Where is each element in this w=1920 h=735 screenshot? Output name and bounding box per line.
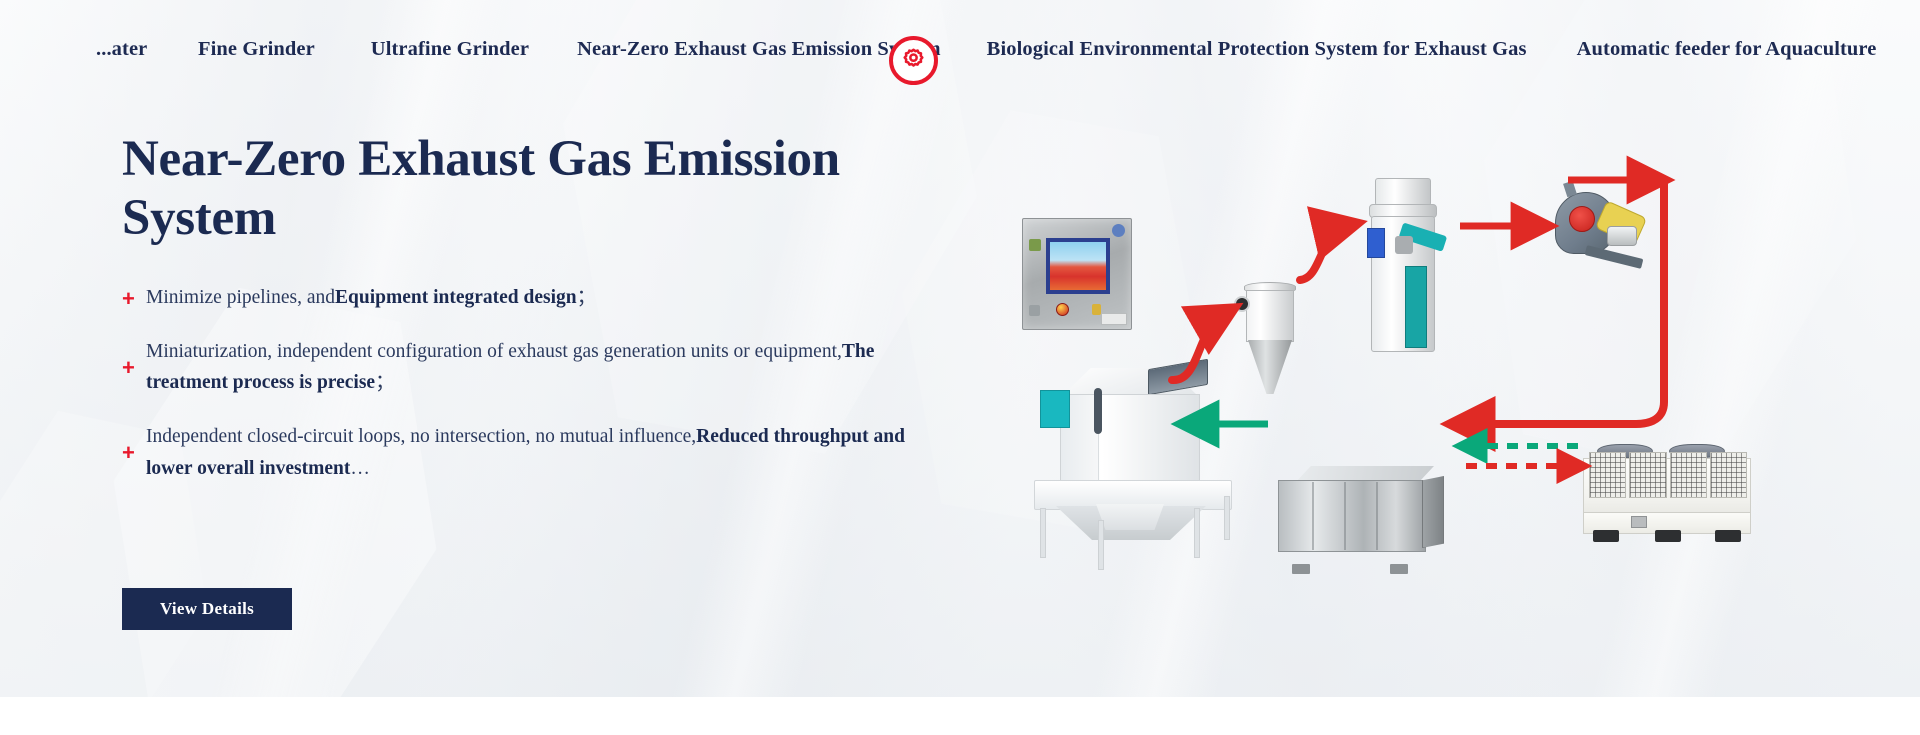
scrubber-tower xyxy=(1365,178,1443,358)
list-item-text: Independent closed-circuit loops, no int… xyxy=(146,421,906,484)
control-panel-label-plate xyxy=(1101,313,1127,325)
hero-copy: Near-Zero Exhaust Gas Emission System + … xyxy=(122,130,912,506)
tower-inspection-window xyxy=(1367,228,1385,258)
baghouse-access-panel xyxy=(1040,390,1070,428)
nav-item-near-zero[interactable]: Near-Zero Exhaust Gas Emission System xyxy=(577,38,941,61)
nav-item-biological[interactable]: Biological Environmental Protection Syst… xyxy=(987,38,1527,61)
stainless-box-rib xyxy=(1376,482,1378,550)
list-item: + Minimize pipelines, andEquipment integ… xyxy=(122,282,912,314)
cyclone-inlet xyxy=(1234,296,1250,312)
tower-access-door xyxy=(1405,266,1427,348)
plus-icon: + xyxy=(122,287,146,310)
chiller-control-box xyxy=(1631,516,1647,528)
plus-icon: + xyxy=(122,356,146,379)
stainless-box-side xyxy=(1422,476,1444,548)
blower-motor xyxy=(1607,226,1637,246)
cyclone-body xyxy=(1246,290,1294,342)
baghouse-leg xyxy=(1098,520,1104,570)
air-cooled-chiller xyxy=(1583,434,1763,554)
baghouse-discharge-chute xyxy=(1096,504,1164,530)
baghouse-leg xyxy=(1194,508,1200,558)
gear-icon-glyph xyxy=(899,46,928,75)
hero-page: ...ater Fine Grinder Ultrafine Grinder N… xyxy=(0,0,1920,735)
chiller-coil xyxy=(1670,452,1707,498)
nav-item-heater[interactable]: ...ater xyxy=(96,38,148,61)
process-flow-diagram xyxy=(1000,150,1800,610)
gear-icon[interactable] xyxy=(889,36,938,85)
chiller-coil-bank xyxy=(1589,452,1747,498)
emergency-stop-icon xyxy=(1056,303,1069,316)
chiller-foot xyxy=(1715,530,1741,542)
bullet-strong: Equipment integrated design xyxy=(335,287,577,308)
baghouse-outlet-duct xyxy=(1148,359,1208,396)
bullet-lead: Minimize pipelines, and xyxy=(146,287,335,308)
baghouse-cabinet xyxy=(1060,394,1200,482)
stainless-treatment-box xyxy=(1278,466,1448,566)
arrow-cyclone-to-tower xyxy=(1300,226,1346,280)
chiller-coil xyxy=(1629,452,1666,498)
blower-inlet xyxy=(1563,181,1577,197)
list-item: + Independent closed-circuit loops, no i… xyxy=(122,421,912,484)
control-panel-knob xyxy=(1092,304,1101,315)
blower-base-frame xyxy=(1585,245,1644,269)
list-item-text: Minimize pipelines, andEquipment integra… xyxy=(146,282,596,314)
list-item: + Miniaturization, independent configura… xyxy=(122,336,912,399)
list-item-text: Miniaturization, independent configurati… xyxy=(146,336,906,399)
control-panel-badge xyxy=(1112,224,1125,237)
bullet-lead: Miniaturization, independent configurati… xyxy=(146,341,842,362)
bullet-tail: ； xyxy=(375,372,395,393)
stainless-box-foot xyxy=(1292,564,1310,574)
stainless-box-rib xyxy=(1312,482,1314,550)
chiller-coil xyxy=(1710,452,1747,498)
baghouse-sight-slot xyxy=(1094,388,1102,434)
bullet-lead: Independent closed-circuit loops, no int… xyxy=(146,426,696,447)
feature-list: + Minimize pipelines, andEquipment integ… xyxy=(122,282,912,484)
control-panel-indicator xyxy=(1029,305,1040,316)
stainless-box-rib xyxy=(1344,482,1346,550)
control-panel-indicator xyxy=(1029,239,1041,251)
tower-drive-unit xyxy=(1395,236,1413,254)
primary-navigation: ...ater Fine Grinder Ultrafine Grinder N… xyxy=(0,0,1920,98)
chiller-foot xyxy=(1593,530,1619,542)
page-bottom-strip xyxy=(0,697,1920,735)
hero-section: ...ater Fine Grinder Ultrafine Grinder N… xyxy=(0,0,1920,697)
centrifugal-blower xyxy=(1555,186,1651,272)
nav-item-fine-grinder[interactable]: Fine Grinder xyxy=(198,38,315,61)
baghouse-leg xyxy=(1224,496,1230,540)
bullet-tail: ； xyxy=(577,287,597,308)
control-panel xyxy=(1022,218,1132,330)
plus-icon: + xyxy=(122,441,146,464)
baghouse-leg xyxy=(1040,508,1046,558)
nav-item-ultrafine-grinder[interactable]: Ultrafine Grinder xyxy=(371,38,529,61)
view-details-button[interactable]: View Details xyxy=(122,588,292,630)
nav-item-auto-feeder[interactable]: Automatic feeder for Aquaculture xyxy=(1577,38,1877,61)
blower-impeller-hub xyxy=(1569,206,1595,232)
stainless-box-foot xyxy=(1390,564,1408,574)
stainless-box-front xyxy=(1278,480,1426,552)
page-title: Near-Zero Exhaust Gas Emission System xyxy=(122,130,862,248)
chiller-coil xyxy=(1589,452,1626,498)
control-panel-screen xyxy=(1046,238,1110,294)
tower-top xyxy=(1375,178,1431,206)
bag-house-collector xyxy=(1034,368,1269,560)
chiller-foot xyxy=(1655,530,1681,542)
bullet-tail: … xyxy=(350,458,370,479)
